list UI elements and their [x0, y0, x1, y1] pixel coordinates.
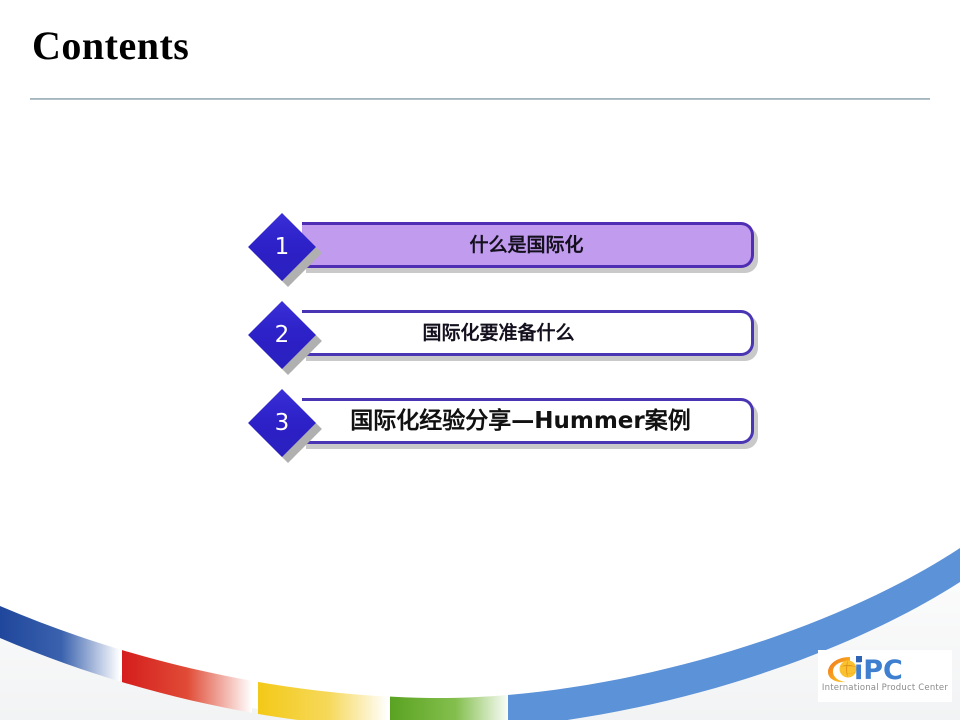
contents-item-2[interactable]: 国际化要准备什么 2: [248, 288, 760, 358]
contents-number-1: 1: [258, 223, 306, 271]
contents-marker-2[interactable]: 2: [248, 299, 320, 371]
contents-bar-3[interactable]: 国际化经验分享—Hummer案例: [302, 398, 754, 444]
contents-item-3[interactable]: 国际化经验分享—Hummer案例 3: [248, 376, 760, 446]
contents-number-3: 3: [258, 399, 306, 447]
contents-bar-1[interactable]: 什么是国际化: [302, 222, 754, 268]
contents-marker-3[interactable]: 3: [248, 387, 320, 459]
contents-marker-1[interactable]: 1: [248, 211, 320, 283]
contents-list: 什么是国际化 1 国际化要准备什么 2 国际化经验分享—Hu: [0, 0, 960, 720]
logo-mark-icon: iPC: [824, 652, 948, 684]
logo-caption: International Product Center: [818, 683, 952, 693]
contents-number-2: 2: [258, 311, 306, 359]
logo: iPC International Product Center: [818, 650, 952, 702]
contents-bar-2[interactable]: 国际化要准备什么: [302, 310, 754, 356]
contents-label-2: 国际化要准备什么: [422, 324, 574, 343]
contents-label-1: 什么是国际化: [469, 236, 583, 255]
contents-label-3: 国际化经验分享—Hummer案例: [350, 410, 691, 433]
contents-item-1[interactable]: 什么是国际化 1: [248, 200, 760, 270]
slide-canvas: Contents 什么是国际化 1 国际化要准备什么: [0, 0, 960, 720]
